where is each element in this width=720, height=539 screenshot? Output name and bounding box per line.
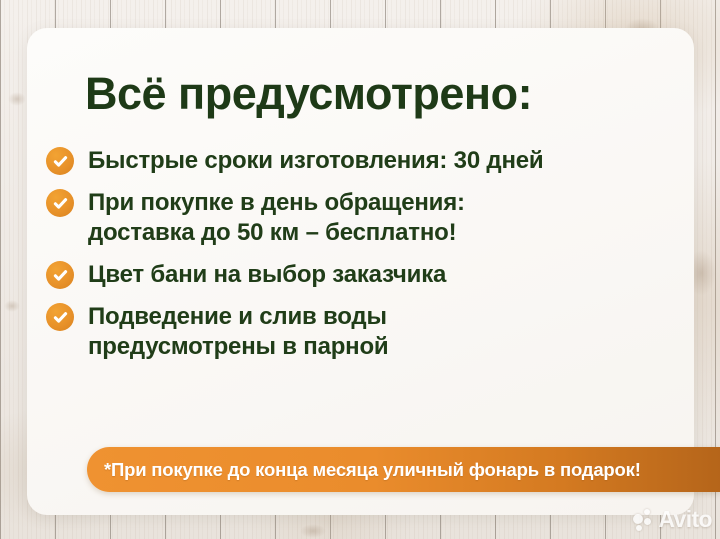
list-item: Быстрые сроки изготовления: 30 дней xyxy=(46,146,686,176)
check-circle-icon xyxy=(46,189,74,217)
wood-knot xyxy=(300,524,326,538)
wood-knot xyxy=(4,300,20,312)
check-circle-icon xyxy=(46,303,74,331)
benefit-line: При покупке в день обращения: xyxy=(88,188,465,218)
benefit-line: доставка до 50 км – бесплатно! xyxy=(88,218,465,248)
list-item: Цвет бани на выбор заказчика xyxy=(46,260,686,290)
promo-card: Всё предусмотрено: Быстрые сроки изготов… xyxy=(27,28,694,515)
avito-watermark: Avito xyxy=(633,506,712,533)
benefits-list: Быстрые сроки изготовления: 30 дней При … xyxy=(46,146,686,374)
page-title: Всё предусмотрено: xyxy=(85,68,532,120)
benefit-text: Подведение и слив воды предусмотрены в п… xyxy=(88,302,389,362)
list-item: Подведение и слив воды предусмотрены в п… xyxy=(46,302,686,362)
wood-knot xyxy=(8,92,26,106)
benefit-text: При покупке в день обращения: доставка д… xyxy=(88,188,465,248)
promo-banner-text: *При покупке до конца месяца уличный фон… xyxy=(87,459,641,481)
list-item: При покупке в день обращения: доставка д… xyxy=(46,188,686,248)
benefit-line: Цвет бани на выбор заказчика xyxy=(88,260,446,290)
avito-wordmark: Avito xyxy=(658,506,712,533)
benefit-line: Подведение и слив воды xyxy=(88,302,389,332)
benefit-line: Быстрые сроки изготовления: 30 дней xyxy=(88,146,543,176)
benefit-line: предусмотрены в парной xyxy=(88,332,389,362)
check-circle-icon xyxy=(46,147,74,175)
benefit-text: Цвет бани на выбор заказчика xyxy=(88,260,446,290)
check-circle-icon xyxy=(46,261,74,289)
avito-dots-icon xyxy=(633,509,655,531)
benefit-text: Быстрые сроки изготовления: 30 дней xyxy=(88,146,543,176)
promo-banner: *При покупке до конца месяца уличный фон… xyxy=(87,447,720,492)
